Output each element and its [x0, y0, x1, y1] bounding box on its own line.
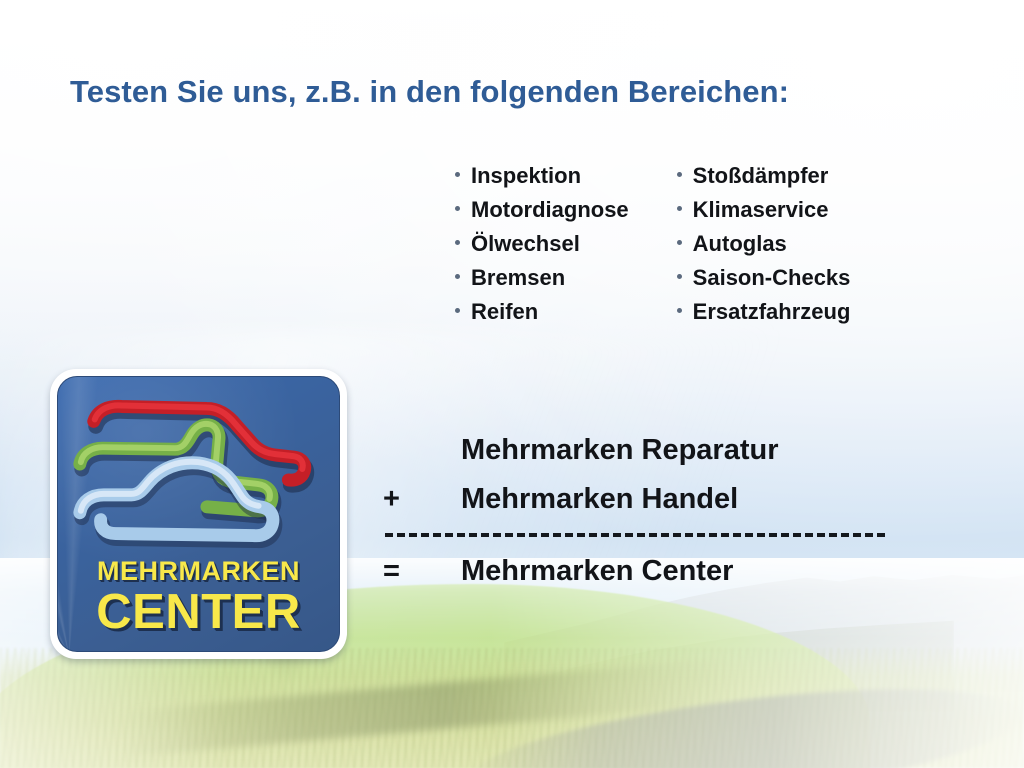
list-item: Ölwechsel [455, 231, 629, 265]
list-item: Saison-Checks [677, 265, 851, 299]
list-item: Motordiagnose [455, 197, 629, 231]
bullet-dot-icon [677, 172, 682, 177]
service-lists: Inspektion Motordiagnose Ölwechsel Brems… [455, 163, 850, 333]
service-label: Stoßdämpfer [693, 163, 829, 189]
list-item: Reifen [455, 299, 629, 333]
logo-wordmark: MEHRMARKEN CENTER [58, 558, 339, 637]
equation-result-row: = Mehrmarken Center [383, 547, 893, 596]
list-item: Ersatzfahrzeug [677, 299, 851, 333]
bullet-dot-icon [677, 206, 682, 211]
equation-term: Mehrmarken Reparatur [461, 434, 779, 467]
bullet-dot-icon [677, 240, 682, 245]
equation-operator-equals: = [383, 555, 461, 588]
equation-result-term: Mehrmarken Center [461, 555, 733, 588]
equation-row-1: Mehrmarken Reparatur [383, 426, 893, 475]
service-label: Saison-Checks [693, 265, 851, 291]
service-label: Bremsen [471, 265, 565, 291]
service-label: Klimaservice [693, 197, 829, 223]
service-label: Ölwechsel [471, 231, 580, 257]
bullet-dot-icon [455, 274, 460, 279]
service-label: Ersatzfahrzeug [693, 299, 851, 325]
equation-row-2: + Mehrmarken Handel [383, 475, 893, 524]
equation-term: Mehrmarken Handel [461, 483, 738, 516]
service-column-right: Stoßdämpfer Klimaservice Autoglas Saison… [677, 163, 851, 333]
list-item: Bremsen [455, 265, 629, 299]
equation-operator-plus: + [383, 483, 461, 516]
logo-tile: MEHRMARKEN CENTER [57, 376, 340, 652]
car-outline-blue-icon [80, 462, 275, 541]
bullet-dot-icon [455, 240, 460, 245]
slide-canvas: Testen Sie uns, z.B. in den folgenden Be… [0, 0, 1024, 768]
list-item: Klimaservice [677, 197, 851, 231]
logo-line-2: CENTER [58, 588, 339, 637]
page-title: Testen Sie uns, z.B. in den folgenden Be… [70, 74, 789, 110]
list-item: Inspektion [455, 163, 629, 197]
service-column-left: Inspektion Motordiagnose Ölwechsel Brems… [455, 163, 629, 333]
bullet-dot-icon [677, 274, 682, 279]
service-label: Motordiagnose [471, 197, 629, 223]
bullet-dot-icon [455, 308, 460, 313]
list-item: Stoßdämpfer [677, 163, 851, 197]
list-item: Autoglas [677, 231, 851, 265]
logo-car-outlines [58, 385, 339, 565]
service-label: Inspektion [471, 163, 581, 189]
logo-line-1: MEHRMARKEN [58, 558, 339, 585]
service-label: Reifen [471, 299, 538, 325]
service-label: Autoglas [693, 231, 787, 257]
equation-block: Mehrmarken Reparatur + Mehrmarken Handel… [383, 426, 893, 596]
mehrmarken-center-logo: MEHRMARKEN CENTER [50, 369, 347, 659]
bullet-dot-icon [455, 206, 460, 211]
bullet-dot-icon [455, 172, 460, 177]
equation-dashed-divider [385, 533, 885, 537]
bullet-dot-icon [677, 308, 682, 313]
